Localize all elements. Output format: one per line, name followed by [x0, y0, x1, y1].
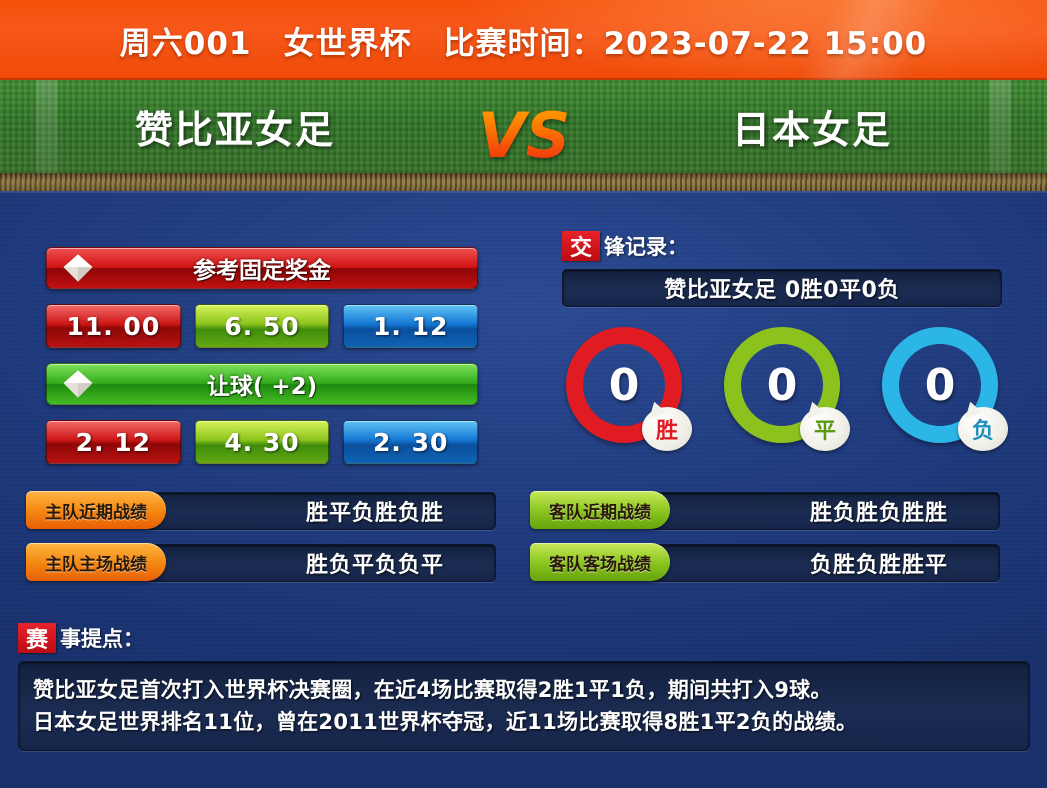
- h2h-section-label: 交 锋记录：: [562, 231, 1002, 261]
- home-team-name: 赞比亚女足: [0, 80, 470, 173]
- vs-icon: VS: [474, 78, 574, 193]
- away-team-name: 日本女足: [577, 80, 1047, 173]
- fixed-odd-home[interactable]: 11. 00: [46, 304, 181, 348]
- home-home-form-label: 主队主场战绩: [26, 543, 166, 581]
- h2h-summary: 赞比亚女足 0胜0平0负: [562, 269, 1002, 307]
- header-bar: 周六001 女世界杯 比赛时间：2023-07-22 15:00: [0, 0, 1047, 80]
- fixed-odd-draw[interactable]: 6. 50: [195, 304, 330, 348]
- fixed-odds-row: 11. 00 6. 50 1. 12: [46, 304, 478, 348]
- main-board: 参考固定奖金 11. 00 6. 50 1. 12 让球( +2) 2. 12 …: [0, 191, 1047, 788]
- away-recent-form-row: 客队近期战绩 胜负胜负胜胜: [530, 491, 1000, 529]
- home-recent-form-value: 胜平负胜负胜: [144, 492, 496, 530]
- home-recent-form-label: 主队近期战绩: [26, 491, 166, 529]
- h2h-rings: 0 胜 0 平 0 负: [562, 327, 1002, 443]
- tips-box: 赞比亚女足首次打入世界杯决赛圈，在近4场比赛取得2胜1平1负，期间共打入9球。 …: [18, 661, 1030, 751]
- match-preview-card: 周六001 女世界杯 比赛时间：2023-07-22 15:00 赞比亚女足 V…: [0, 0, 1047, 788]
- h2h-ring-win: 0 胜: [566, 327, 682, 443]
- diamond-icon: [61, 367, 95, 401]
- handicap-odd-draw[interactable]: 4. 30: [195, 420, 330, 464]
- handicap-odd-away[interactable]: 2. 30: [343, 420, 478, 464]
- handicap-title-bar: 让球( +2): [46, 363, 478, 405]
- away-away-form-label: 客队客场战绩: [530, 543, 670, 581]
- h2h-draw-badge: 平: [800, 407, 850, 451]
- tips-line-1: 赞比亚女足首次打入世界杯决赛圈，在近4场比赛取得2胜1平1负，期间共打入9球。: [33, 674, 1015, 706]
- home-home-form-value: 胜负平负负平: [144, 544, 496, 582]
- away-away-form-row: 客队客场战绩 负胜负胜胜平: [530, 543, 1000, 581]
- tips-section: 赛 事提点： 赞比亚女足首次打入世界杯决赛圈，在近4场比赛取得2胜1平1负，期间…: [18, 623, 1030, 751]
- tips-label-text: 事提点：: [60, 623, 144, 653]
- home-form-column: 主队近期战绩 胜平负胜负胜 主队主场战绩 胜负平负负平: [26, 491, 496, 595]
- h2h-label-mark: 交: [562, 231, 600, 261]
- h2h-win-badge: 胜: [642, 407, 692, 451]
- tips-label-mark: 赛: [18, 623, 56, 653]
- handicap-title: 让球( +2): [207, 367, 317, 401]
- fixed-odds-title: 参考固定奖金: [193, 251, 331, 285]
- odds-panel: 参考固定奖金 11. 00 6. 50 1. 12 让球( +2) 2. 12 …: [46, 247, 478, 479]
- fixed-odd-away[interactable]: 1. 12: [343, 304, 478, 348]
- tips-line-2: 日本女足世界排名11位，曾在2011世界杯夺冠，近11场比赛取得8胜1平2负的战…: [33, 706, 1015, 738]
- handicap-odd-home[interactable]: 2. 12: [46, 420, 181, 464]
- tips-section-label: 赛 事提点：: [18, 623, 1030, 653]
- away-recent-form-value: 胜负胜负胜胜: [648, 492, 1000, 530]
- away-form-column: 客队近期战绩 胜负胜负胜胜 客队客场战绩 负胜负胜胜平: [530, 491, 1000, 595]
- away-recent-form-label: 客队近期战绩: [530, 491, 670, 529]
- h2h-ring-draw: 0 平: [724, 327, 840, 443]
- head-to-head-panel: 交 锋记录： 赞比亚女足 0胜0平0负 0 胜 0 平 0 负: [562, 231, 1002, 443]
- diamond-icon: [61, 251, 95, 285]
- page-title: 周六001 女世界杯 比赛时间：2023-07-22 15:00: [0, 0, 1047, 80]
- away-away-form-value: 负胜负胜胜平: [648, 544, 1000, 582]
- h2h-loss-badge: 负: [958, 407, 1008, 451]
- fixed-odds-title-bar: 参考固定奖金: [46, 247, 478, 289]
- home-recent-form-row: 主队近期战绩 胜平负胜负胜: [26, 491, 496, 529]
- handicap-odds-row: 2. 12 4. 30 2. 30: [46, 420, 478, 464]
- home-home-form-row: 主队主场战绩 胜负平负负平: [26, 543, 496, 581]
- h2h-label-text: 锋记录：: [604, 231, 688, 261]
- h2h-ring-loss: 0 负: [882, 327, 998, 443]
